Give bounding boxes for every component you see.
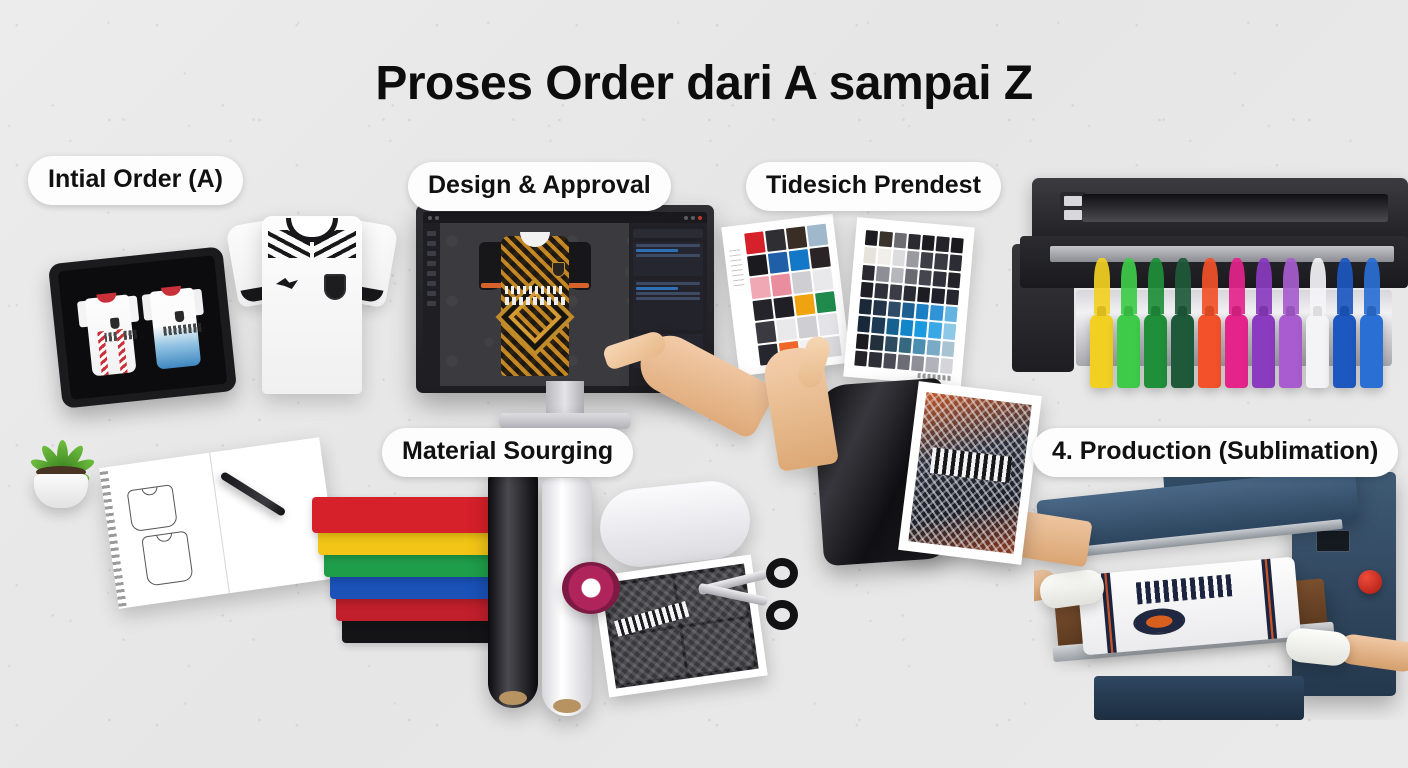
color-swatch <box>773 296 794 319</box>
color-swatch <box>865 230 879 246</box>
jersey-crest <box>110 317 120 329</box>
color-swatch <box>897 354 911 370</box>
transfer-artwork <box>908 392 1031 554</box>
properties-panel[interactable] <box>633 242 703 276</box>
ink-bottle <box>1144 314 1167 388</box>
color-swatch <box>943 323 957 339</box>
tablet-device[interactable] <box>48 246 237 408</box>
color-swatch <box>946 289 960 305</box>
color-swatch <box>928 322 942 338</box>
color-swatch <box>883 353 897 369</box>
jersey-text-graphic <box>163 322 204 335</box>
color-swatch <box>893 232 907 248</box>
color-swatch <box>859 299 873 315</box>
color-swatch <box>906 251 920 267</box>
color-swatch <box>873 300 887 316</box>
color-swatch <box>886 318 900 334</box>
window-dot-icon <box>435 216 439 220</box>
color-swatch <box>925 357 939 373</box>
color-swatch <box>944 306 958 322</box>
layer-row[interactable] <box>636 297 700 300</box>
ink-splash <box>1310 258 1326 314</box>
color-swatch <box>900 320 914 336</box>
color-swatch <box>930 305 944 321</box>
black-transfer-roll <box>488 470 538 708</box>
printer-top-housing <box>1032 178 1408 240</box>
color-swatch <box>916 304 930 320</box>
window-minimize-icon[interactable] <box>684 216 688 220</box>
ink-bottle <box>1306 314 1329 388</box>
ink-bottle <box>1225 314 1248 388</box>
team-crest-icon <box>324 274 346 300</box>
panel-row[interactable] <box>636 254 700 257</box>
ink-splash <box>1256 258 1272 314</box>
panel-header <box>633 229 703 238</box>
monitor-stand-neck <box>546 381 584 415</box>
color-swatch <box>903 285 917 301</box>
app-titlebar <box>423 212 707 223</box>
roll-core <box>553 699 581 713</box>
color-swatch <box>771 273 792 296</box>
tool-icon[interactable] <box>427 261 436 266</box>
color-swatch <box>936 236 950 252</box>
stage-label-initial-order[interactable]: Intial Order (A) <box>28 156 243 205</box>
color-swatch <box>927 339 941 355</box>
page-title: Proses Order dari A sampai Z <box>0 56 1408 111</box>
ink-bottle <box>1252 314 1275 388</box>
ink-bottle <box>1198 314 1221 388</box>
tool-icon[interactable] <box>427 291 436 296</box>
color-swatch <box>862 264 876 280</box>
ink-splash <box>1148 258 1164 314</box>
color-swatch <box>791 271 812 294</box>
brand-logo-icon <box>276 278 298 289</box>
color-swatch <box>940 358 954 374</box>
team-crest-icon <box>552 262 565 277</box>
jersey-sketch <box>125 481 210 590</box>
color-swatch <box>750 276 771 299</box>
panel-row[interactable] <box>636 244 700 247</box>
heat-press-machine[interactable] <box>1034 462 1408 720</box>
color-swatch <box>747 254 768 277</box>
potted-succulent <box>20 418 100 508</box>
artwork-cell <box>613 628 685 684</box>
color-swatch <box>907 234 921 250</box>
color-swatch <box>876 266 890 282</box>
pink-tape-dispenser <box>562 562 620 614</box>
color-swatch <box>887 301 901 317</box>
scissor-handle <box>766 600 798 630</box>
color-swatch <box>914 321 928 337</box>
stage-label-production[interactable]: 4. Production (Sublimation) <box>1032 428 1398 477</box>
ink-bottle <box>1171 314 1194 388</box>
color-swatch <box>765 229 786 252</box>
ink-splash <box>1283 258 1299 314</box>
printed-transfer-paper <box>898 381 1042 565</box>
color-swatch <box>892 250 906 266</box>
ink-splash <box>1337 258 1353 314</box>
ink-bottle <box>1279 314 1302 388</box>
ink-splash <box>1364 258 1380 314</box>
sketch-shirt-top <box>127 484 178 532</box>
ink-bottle <box>1360 314 1383 388</box>
transfer-text-band <box>929 447 1012 482</box>
tablet-jersey-right <box>140 278 209 370</box>
app-toolbar[interactable] <box>423 223 440 386</box>
jersey-text-graphic <box>505 286 565 306</box>
plant-pot <box>34 474 88 508</box>
color-swatch <box>911 355 925 371</box>
color-swatch <box>934 253 948 269</box>
roll-core <box>499 691 527 705</box>
color-swatch <box>920 252 934 268</box>
color-swatch <box>884 336 898 352</box>
window-close-icon[interactable] <box>698 216 702 220</box>
sketch-shirt-bottom <box>141 531 194 587</box>
ink-splash <box>1175 258 1191 314</box>
tool-icon[interactable] <box>427 271 436 276</box>
color-swatch <box>917 287 931 303</box>
thumb <box>795 334 832 391</box>
window-maximize-icon[interactable] <box>691 216 695 220</box>
window-dot-icon <box>428 216 432 220</box>
ink-splash <box>1121 258 1137 314</box>
color-swatch <box>904 268 918 284</box>
tablet-screen <box>58 255 228 400</box>
jersey-crest <box>174 310 184 322</box>
jersey-stripe-right <box>1261 559 1277 639</box>
large-format-sublimation-printer[interactable] <box>1012 178 1408 398</box>
color-swatch <box>922 235 936 251</box>
color-swatch <box>933 271 947 287</box>
ink-bottle-row <box>1090 314 1383 388</box>
color-swatch <box>950 237 964 253</box>
color-swatch <box>941 341 955 357</box>
tool-icon[interactable] <box>427 231 436 236</box>
tool-icon[interactable] <box>427 241 436 246</box>
jersey-body <box>85 294 137 376</box>
holding-swatch-hand <box>760 330 880 460</box>
color-swatch <box>947 272 961 288</box>
swatch-sheet-lines <box>729 249 745 290</box>
ink-bottle <box>1333 314 1356 388</box>
press-base <box>1094 676 1304 720</box>
tablet-jersey-left <box>76 285 145 377</box>
sleeve-cuff <box>567 283 589 288</box>
color-swatch <box>890 267 904 283</box>
color-swatch <box>898 337 912 353</box>
color-swatch <box>789 249 810 272</box>
color-swatch <box>768 251 789 274</box>
color-swatch <box>919 269 933 285</box>
color-swatch <box>807 224 828 247</box>
printer-paper-slot <box>1082 194 1388 222</box>
color-swatch <box>744 231 765 254</box>
emergency-stop-button[interactable] <box>1358 570 1382 594</box>
color-swatch <box>815 291 836 314</box>
ink-splash <box>1094 258 1110 314</box>
color-swatch <box>949 255 963 271</box>
press-display <box>1316 530 1350 552</box>
color-swatch <box>875 283 889 299</box>
jersey-logo-icon <box>1132 606 1186 636</box>
layer-row[interactable] <box>636 282 700 285</box>
white-jersey-sample <box>232 200 392 400</box>
stage-label-tidesich[interactable]: Tidesich Prendest <box>746 162 1001 211</box>
batik-jersey-design <box>479 232 591 377</box>
color-swatch <box>863 247 877 263</box>
scissor-handle <box>766 558 798 588</box>
ink-bottle <box>1090 314 1113 388</box>
color-swatch <box>794 293 815 316</box>
layer-row[interactable] <box>636 292 700 295</box>
color-swatch <box>860 282 874 298</box>
layers-panel[interactable] <box>633 280 703 330</box>
sketch-neckline <box>156 533 173 543</box>
sketch-neckline <box>141 486 158 496</box>
layer-row-selected[interactable] <box>636 287 678 290</box>
color-swatch <box>889 284 903 300</box>
jersey-text-graphic <box>1136 574 1234 604</box>
color-swatch <box>812 268 833 291</box>
color-swatch <box>786 226 807 249</box>
tool-icon[interactable] <box>427 301 436 306</box>
scissors <box>694 556 798 630</box>
ink-splash <box>1229 258 1245 314</box>
color-swatch <box>931 288 945 304</box>
jersey-body <box>149 287 201 369</box>
color-swatch <box>913 338 927 354</box>
jersey-body <box>501 236 569 376</box>
ink-bottle <box>1117 314 1140 388</box>
color-swatch <box>809 246 830 269</box>
tool-icon[interactable] <box>427 251 436 256</box>
panel-row-selected[interactable] <box>636 249 678 252</box>
stage-label-design-approval[interactable]: Design & Approval <box>408 162 671 211</box>
color-swatch <box>901 302 915 318</box>
ink-splash <box>1202 258 1218 314</box>
color-swatch <box>879 231 893 247</box>
stage-label-material[interactable]: Material Sourging <box>382 428 633 477</box>
color-swatch <box>752 298 773 321</box>
sleeve-cuff <box>481 283 503 288</box>
fabric-swatch <box>312 497 500 533</box>
panel-button-icon[interactable] <box>1064 210 1082 220</box>
panel-button-icon[interactable] <box>1064 196 1082 206</box>
jersey-body <box>262 216 362 394</box>
color-swatch <box>878 248 892 264</box>
tool-icon[interactable] <box>427 281 436 286</box>
